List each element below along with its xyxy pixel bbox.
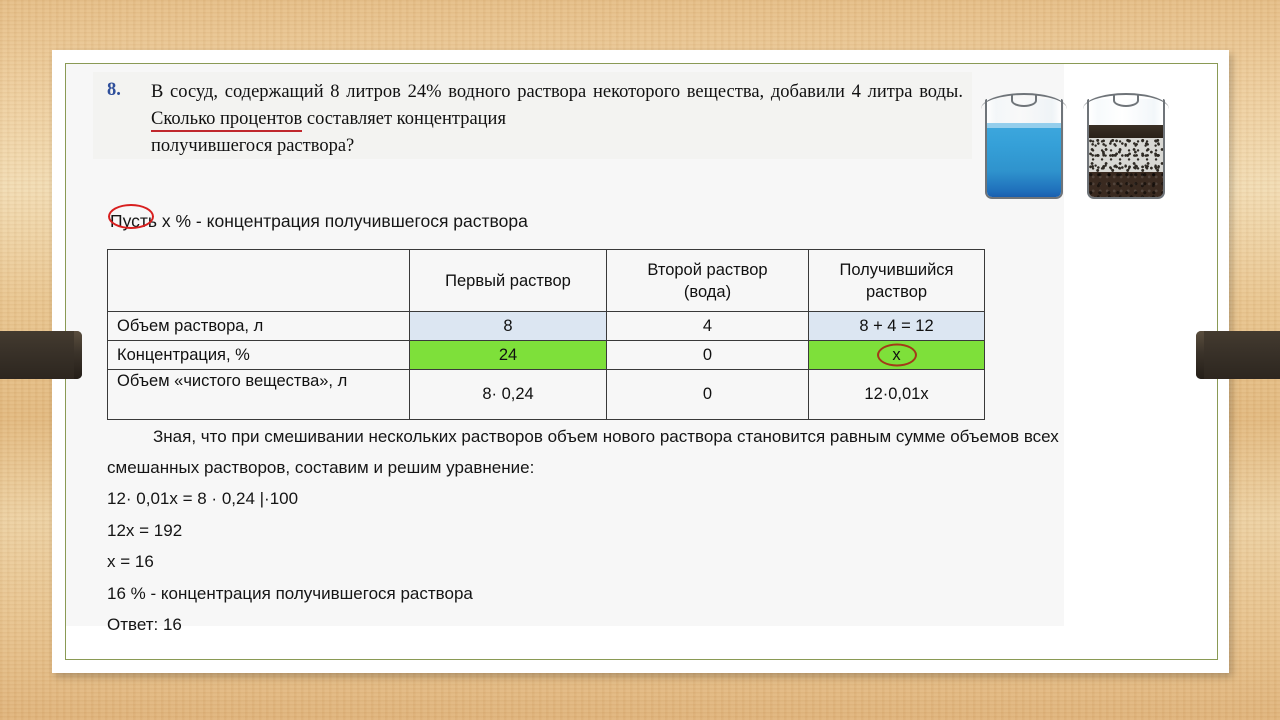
- problem-line-1: В сосуд, содержащий 8 литров 24% водного…: [151, 82, 764, 102]
- row-concentration-result: x: [809, 341, 985, 370]
- beaker-left-spout: [1011, 94, 1037, 107]
- slide-inner-border: 8. В сосуд, содержащий 8 литров 24% водн…: [65, 63, 1218, 660]
- problem-number: 8.: [107, 80, 121, 101]
- row-pure-second: 0: [607, 370, 809, 420]
- table-header-second-line2: (вода): [613, 281, 802, 303]
- solution-step-1: 12· 0,01х = 8 · 0,24 |·100: [107, 483, 1067, 515]
- assumption-variable: x % -: [162, 211, 202, 231]
- slide-content-panel: 8. В сосуд, содержащий 8 литров 24% водн…: [66, 64, 1064, 626]
- row-pure-label: Объем «чистого вещества», л: [108, 370, 410, 420]
- table-row-volume: Объем раствора, л 8 4 8 + 4 = 12: [108, 312, 985, 341]
- table-header-empty: [108, 250, 410, 312]
- assumption-line: Пусть x % - концентрация получившегося р…: [110, 211, 528, 232]
- beaker-right-spout: [1113, 94, 1139, 107]
- beaker-right-speckled-layer: [1089, 138, 1163, 171]
- row-volume-result: 8 + 4 = 12: [809, 312, 985, 341]
- problem-line-2-before: добавили 4 литра воды.: [771, 82, 963, 102]
- row-volume-label: Объем раствора, л: [108, 312, 410, 341]
- decorative-strap-right: [1196, 331, 1280, 379]
- decorative-strap-left: [0, 331, 82, 379]
- row-concentration-second: 0: [607, 341, 809, 370]
- problem-statement-text: В сосуд, содержащий 8 литров 24% водного…: [151, 79, 963, 133]
- row-concentration-result-value: x: [892, 346, 900, 364]
- row-concentration-label: Концентрация, %: [108, 341, 410, 370]
- table-header-second-solution: Второй раствор (вода): [607, 250, 809, 312]
- table-header-result-solution: Получившийся раствор: [809, 250, 985, 312]
- problem-line-3: получившегося раствора?: [151, 133, 354, 160]
- beaker-left-liquid: [987, 123, 1061, 197]
- assumption-suffix: концентрация получившегося раствора: [207, 211, 528, 231]
- beaker-illustration: [981, 69, 1206, 199]
- table-header-result-line1: Получившийся: [815, 259, 978, 281]
- row-volume-second: 4: [607, 312, 809, 341]
- table-row-pure-substance: Объем «чистого вещества», л 8· 0,24 0 12…: [108, 370, 985, 420]
- row-concentration-first: 24: [410, 341, 607, 370]
- solution-intro: Зная, что при смешивании нескольких раст…: [107, 421, 1062, 483]
- row-pure-first: 8· 0,24: [410, 370, 607, 420]
- problem-line-2-after: составляет концентрация: [307, 109, 506, 129]
- table-header-result-line2: раствор: [815, 281, 978, 303]
- beaker-dark-mixture-icon: [1083, 87, 1169, 199]
- assumption-prefix: Пусть: [110, 211, 157, 231]
- beaker-right-grain-layer: [1089, 172, 1163, 197]
- solution-answer: Ответ: 16: [107, 609, 1067, 641]
- solution-step-3: х = 16: [107, 546, 1067, 578]
- solution-text-block: Зная, что при смешивании нескольких раст…: [107, 421, 1067, 641]
- table-header-first-solution: Первый раствор: [410, 250, 607, 312]
- table-header-row: Первый раствор Второй раствор (вода) Пол…: [108, 250, 985, 312]
- table-header-second-line1: Второй раствор: [613, 259, 802, 281]
- row-pure-result: 12·0,01х: [809, 370, 985, 420]
- beaker-blue-solution-icon: [981, 87, 1067, 199]
- slide-card: 8. В сосуд, содержащий 8 литров 24% водн…: [52, 50, 1229, 673]
- beaker-right-glass: [1087, 99, 1165, 199]
- beaker-right-dark-layer: [1089, 125, 1163, 138]
- solution-step-2: 12х = 192: [107, 515, 1067, 547]
- problem-underlined-phrase: Сколько процентов: [151, 109, 302, 132]
- solution-table: Первый раствор Второй раствор (вода) Пол…: [107, 249, 985, 420]
- beaker-left-glass: [985, 99, 1063, 199]
- table-row-concentration: Концентрация, % 24 0 x: [108, 341, 985, 370]
- problem-statement-block: 8. В сосуд, содержащий 8 литров 24% водн…: [93, 72, 972, 159]
- row-volume-first: 8: [410, 312, 607, 341]
- solution-step-4: 16 % - концентрация получившегося раство…: [107, 578, 1067, 610]
